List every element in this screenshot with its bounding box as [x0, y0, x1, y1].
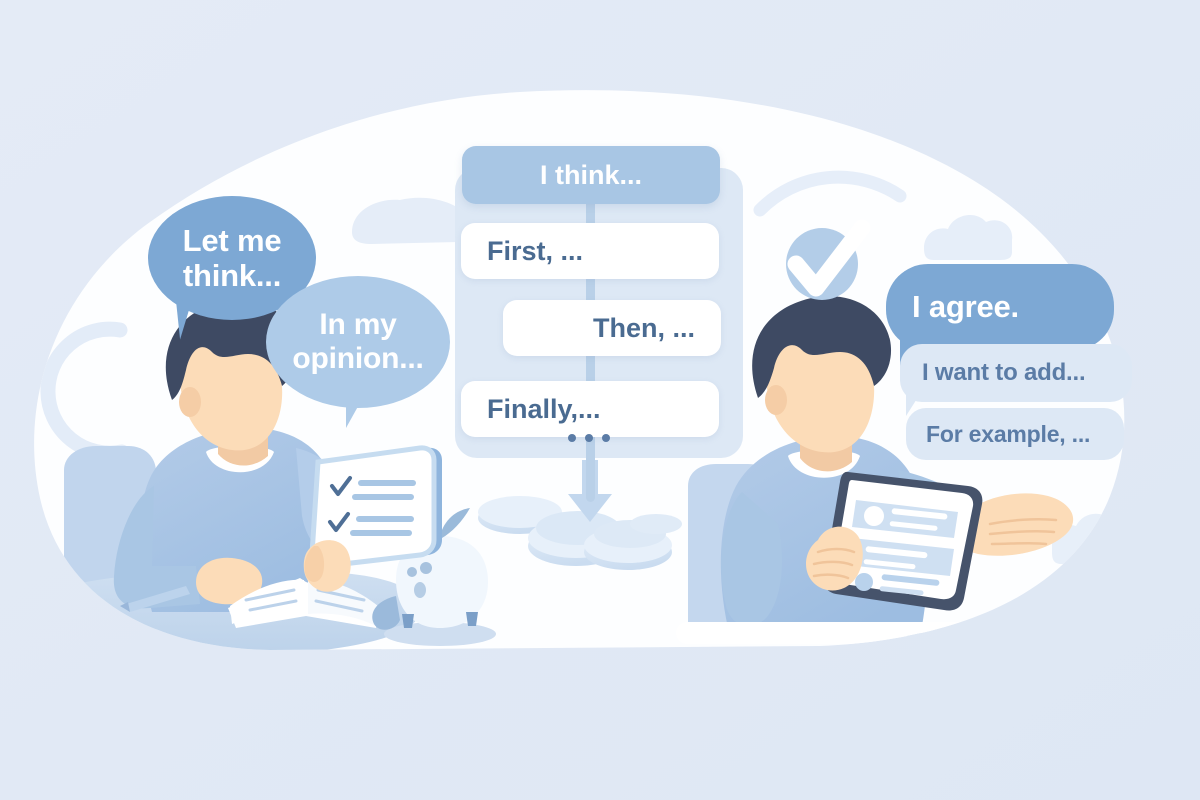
illustration-canvas: I think... First, ... Then, ... Finally,…: [0, 0, 1200, 800]
step-card-then[interactable]: Then, ...: [503, 300, 721, 356]
left-ear: [179, 387, 201, 417]
bubble-tail-let-me-think: [176, 299, 210, 340]
bubble-i-want-to-add[interactable]: I want to add...: [900, 344, 1132, 402]
step-card-first[interactable]: First, ...: [461, 223, 719, 279]
step-card-header[interactable]: I think...: [462, 146, 720, 204]
step-card-finally[interactable]: Finally,...: [461, 381, 719, 437]
dot-icon: [568, 434, 576, 442]
check-circle-badge: [786, 228, 858, 300]
dot-icon: [602, 434, 610, 442]
bubble-tail-in-my-opinion: [346, 392, 380, 428]
continuation-dots: [568, 434, 610, 442]
bubble-i-agree[interactable]: I agree.: [886, 264, 1114, 350]
dot-icon: [585, 434, 593, 442]
bubble-for-example[interactable]: For example, ...: [906, 408, 1124, 460]
right-ear: [765, 385, 787, 415]
bubble-in-my-opinion[interactable]: In my opinion...: [266, 276, 450, 408]
